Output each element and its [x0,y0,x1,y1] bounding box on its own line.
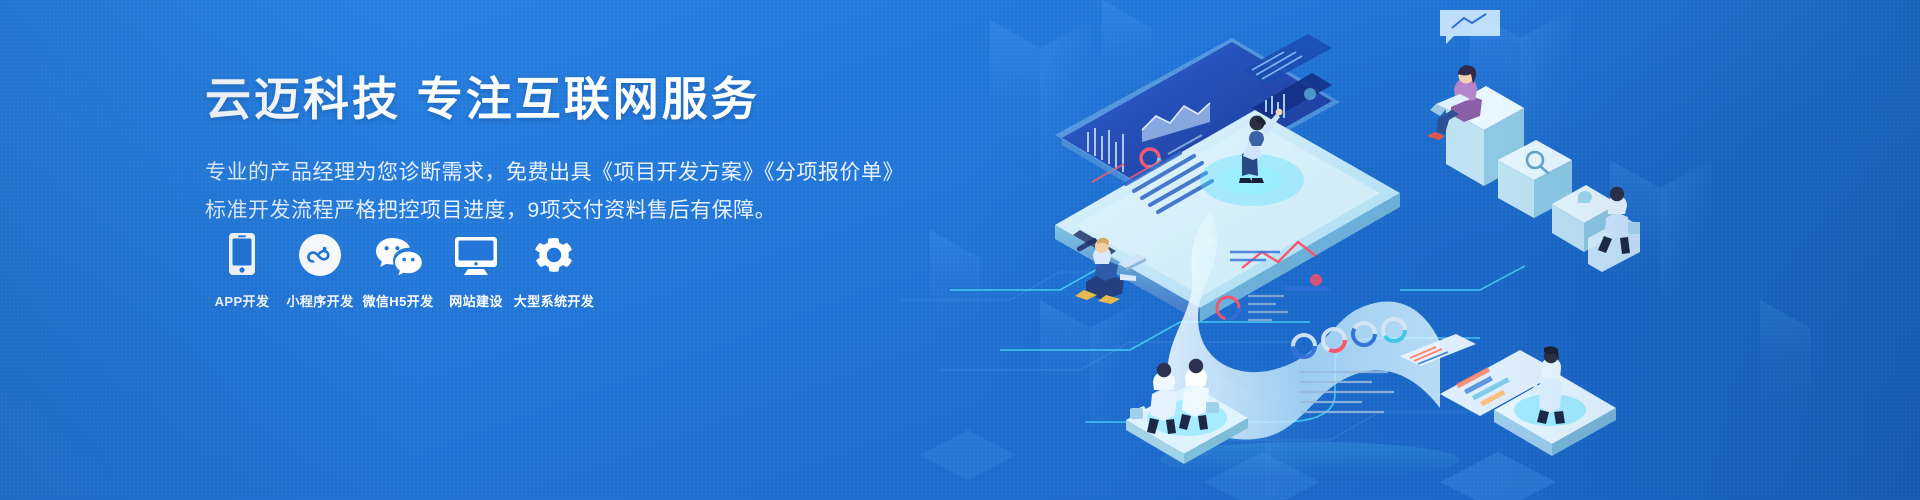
hero-banner: 云迈科技 专注互联网服务 专业的产品经理为您诊断需求，免费出具《项目开发方案》《… [0,0,1920,500]
hero-subtitle-line-1: 专业的产品经理为您诊断需求，免费出具《项目开发方案》《分项报价单》 [205,155,965,191]
hero-subtitle-line-2: 标准开发流程严格把控项目进度，9项交付资料售后有保障。 [205,193,965,229]
mini-program-icon [299,232,341,276]
service-item-website[interactable]: 网站建设 [439,232,513,310]
hero-copy: 云迈科技 专注互联网服务 专业的产品经理为您诊断需求，免费出具《项目开发方案》《… [205,72,965,229]
service-item-mini-program[interactable]: 小程序开发 [283,232,357,310]
mobile-phone-icon [227,232,257,276]
service-item-large-system[interactable]: 大型系统开发 [517,232,591,310]
service-list: APP开发 小程序开发 [205,232,595,310]
service-label: APP开发 [215,291,270,310]
wechat-icon [374,232,422,276]
page-title: 云迈科技 专注互联网服务 [205,72,965,127]
service-item-app[interactable]: APP开发 [205,232,279,310]
isometric-illustration [880,0,1640,500]
service-label: 小程序开发 [286,291,353,310]
gear-icon [533,232,575,276]
service-label: 网站建设 [449,291,503,310]
service-label: 微信H5开发 [362,291,433,310]
service-label: 大型系统开发 [514,291,594,310]
monitor-icon [454,232,498,276]
service-item-wechat-h5[interactable]: 微信H5开发 [361,232,435,310]
chat-bubble-chart [1440,10,1500,44]
